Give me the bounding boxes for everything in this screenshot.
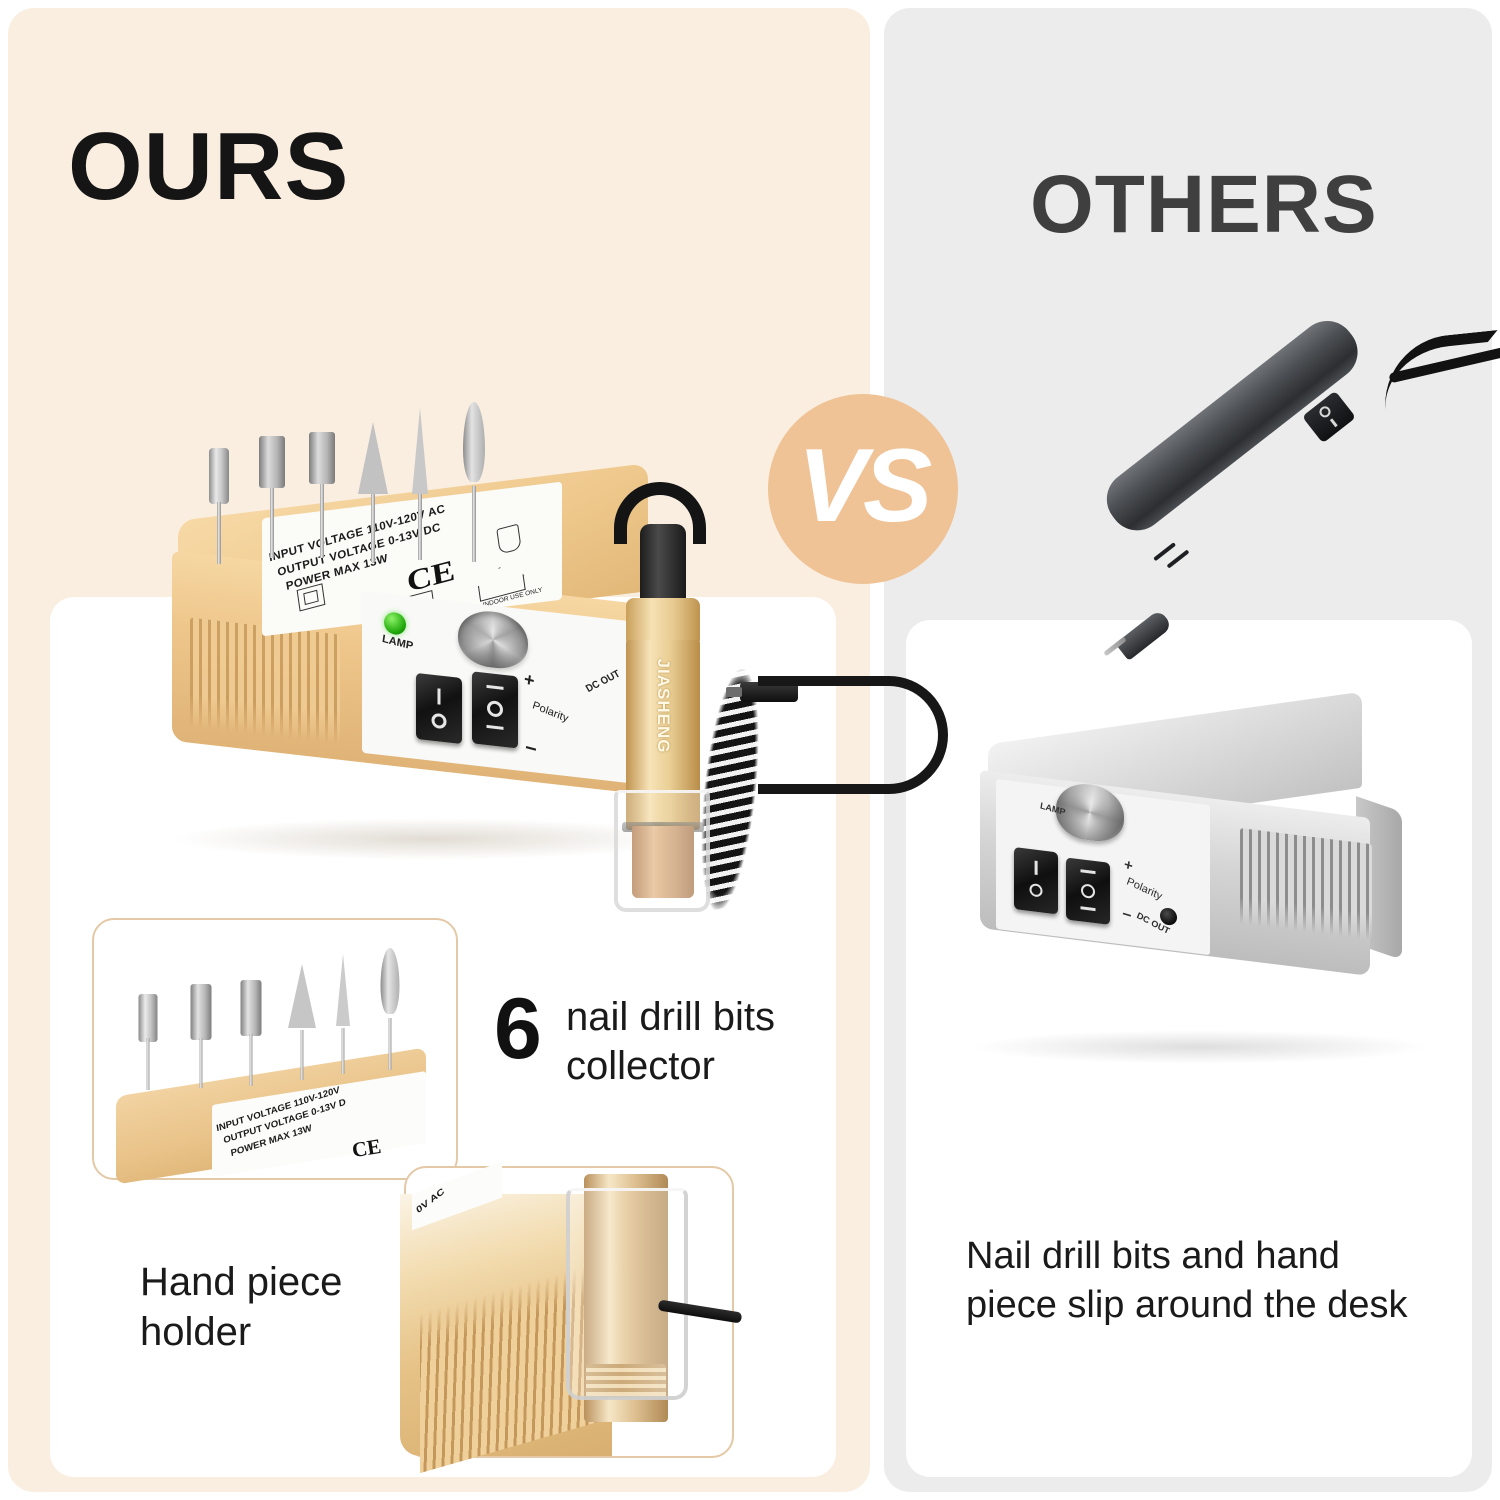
drill-bit-head <box>412 408 428 494</box>
drill-bit-shaft <box>371 494 375 562</box>
drill-bit-4 <box>358 422 388 562</box>
drill-bit-5 <box>412 408 428 560</box>
drill-bit-shaft <box>147 1038 150 1090</box>
drill-bit-head <box>358 422 388 494</box>
panel-others-title: OTHERS <box>1030 158 1378 252</box>
others-polarity-plus-label: + <box>1123 856 1135 875</box>
drill-bit-shaft <box>200 1038 203 1088</box>
inset-drill-bit-1 <box>138 994 158 1090</box>
others-device-vents <box>1240 828 1372 940</box>
others-handpiece-vents <box>1153 534 1207 587</box>
lamp-led-indicator <box>384 611 406 636</box>
drill-bit-3 <box>308 432 336 558</box>
drill-bit-head <box>139 994 158 1042</box>
indoor-use-icon: INDOOR USE ONLY <box>474 561 528 603</box>
vent-slot <box>1153 542 1176 561</box>
drill-bit-shaft <box>270 488 274 558</box>
drill-bit-head <box>209 448 229 504</box>
vent-slot <box>1167 549 1190 568</box>
inset-drill-bit-2 <box>190 984 212 1088</box>
handpiece-glass-holder <box>614 790 710 912</box>
inset-drill-bit-4 <box>288 964 316 1080</box>
drill-bit-head <box>463 402 485 482</box>
switch-dash-top <box>1081 869 1096 874</box>
inset-drill-bit-6 <box>380 948 400 1070</box>
speed-control-knob[interactable] <box>458 608 528 672</box>
switch-off-glyph <box>487 700 503 718</box>
switch-off-glyph <box>432 713 447 730</box>
power-switch[interactable] <box>416 673 462 744</box>
bits-label-line2: collector <box>566 1042 775 1091</box>
drill-bit-shaft <box>250 1034 253 1086</box>
inset-handpiece-holder: 0V AC <box>404 1166 734 1458</box>
others-polarity-switch[interactable] <box>1066 857 1110 924</box>
inset-drill-bits-collector: INPUT VOLTAGE 110V-120V OUTPUT VOLTAGE 0… <box>92 918 458 1180</box>
ours-handpiece: JIASHENG <box>602 490 722 910</box>
switch-off-glyph <box>1030 883 1043 898</box>
bits-count-label: nail drill bits collector <box>566 993 775 1091</box>
inset-holder-label-text: 0V AC <box>415 1186 446 1215</box>
others-polarity-minus-label: − <box>1121 906 1133 926</box>
drill-bit-6 <box>462 402 486 562</box>
drill-bit-shaft <box>301 1030 304 1080</box>
switch-dash-top <box>487 685 504 690</box>
drill-bit-shaft <box>418 494 422 560</box>
comparison-infographic: OURS <box>0 0 1500 1500</box>
holder-caption-line2: holder <box>140 1308 342 1358</box>
drill-bit-head <box>191 984 212 1040</box>
switch-on-glyph <box>438 688 441 704</box>
others-handpiece <box>1096 338 1496 698</box>
handpiece-brand-text: JIASHENG <box>653 659 673 754</box>
switch-off-glyph <box>1081 883 1095 899</box>
drill-bit-2 <box>258 436 286 558</box>
switch-off-glyph <box>1317 404 1332 419</box>
inset-holder-glass-cup <box>566 1188 688 1400</box>
others-power-switch[interactable] <box>1014 847 1058 914</box>
switch-dash-bottom <box>487 725 504 730</box>
polarity-label: Polarity <box>531 700 570 725</box>
polarity-switch[interactable] <box>472 671 518 748</box>
switch-dash-bottom <box>1081 906 1096 911</box>
drill-bit-head <box>336 954 350 1026</box>
polarity-plus-label: + <box>523 669 536 692</box>
handpiece-holder-caption: Hand piece holder <box>140 1258 342 1357</box>
others-caption-line1: Nail drill bits and hand <box>966 1232 1408 1281</box>
lamp-label: LAMP <box>381 633 414 653</box>
inset-drill-bit-5 <box>336 954 350 1074</box>
bits-count-number: 6 <box>494 986 542 1072</box>
others-polarity-label: Polarity <box>1125 876 1164 903</box>
drill-bit-shaft <box>320 484 324 558</box>
drill-bit-shaft <box>342 1028 345 1074</box>
device-vents <box>190 617 340 744</box>
inset-ce-mark-icon: CE <box>350 1134 383 1163</box>
others-control-panel: LAMP + Polarity − DC OUT <box>996 779 1210 955</box>
inset-drill-bit-3 <box>240 980 262 1086</box>
drill-bit-shaft <box>472 486 476 562</box>
handpiece-cap <box>626 598 700 642</box>
others-handpiece-tip <box>1115 609 1173 661</box>
bits-label-line1: nail drill bits <box>566 993 775 1042</box>
ours-nail-drill-machine: INPUT VOLTAGE 110V-120V AC OUTPUT VOLTAG… <box>150 430 730 850</box>
drill-bit-shaft <box>217 502 221 564</box>
others-caption-line2: piece slip around the desk <box>966 1281 1408 1330</box>
polarity-minus-label: − <box>523 737 538 762</box>
dc-power-cable <box>758 676 948 794</box>
drill-bit-head <box>381 948 400 1014</box>
switch-on-glyph <box>1035 861 1038 875</box>
switch-on-glyph <box>1330 419 1338 428</box>
drill-bit-head <box>241 980 262 1036</box>
drill-bit-head <box>309 432 335 484</box>
control-panel: LAMP + Polarity − DC OUT <box>362 591 630 784</box>
drill-bit-1 <box>208 448 230 564</box>
drill-bit-shaft <box>389 1018 392 1070</box>
safety-shield-icon <box>496 524 521 555</box>
panel-ours-title: OURS <box>68 112 349 222</box>
vs-badge: VS <box>768 394 958 584</box>
others-nail-drill-machine: LAMP + Polarity − DC OUT <box>952 718 1452 1058</box>
holder-caption-line1: Hand piece <box>140 1258 342 1308</box>
drill-bit-head <box>288 964 316 1028</box>
vs-badge-label: VS <box>798 434 929 538</box>
others-caption: Nail drill bits and hand piece slip arou… <box>966 1232 1408 1329</box>
drill-bit-head <box>259 436 285 488</box>
handpiece-cable-boot <box>640 524 686 606</box>
